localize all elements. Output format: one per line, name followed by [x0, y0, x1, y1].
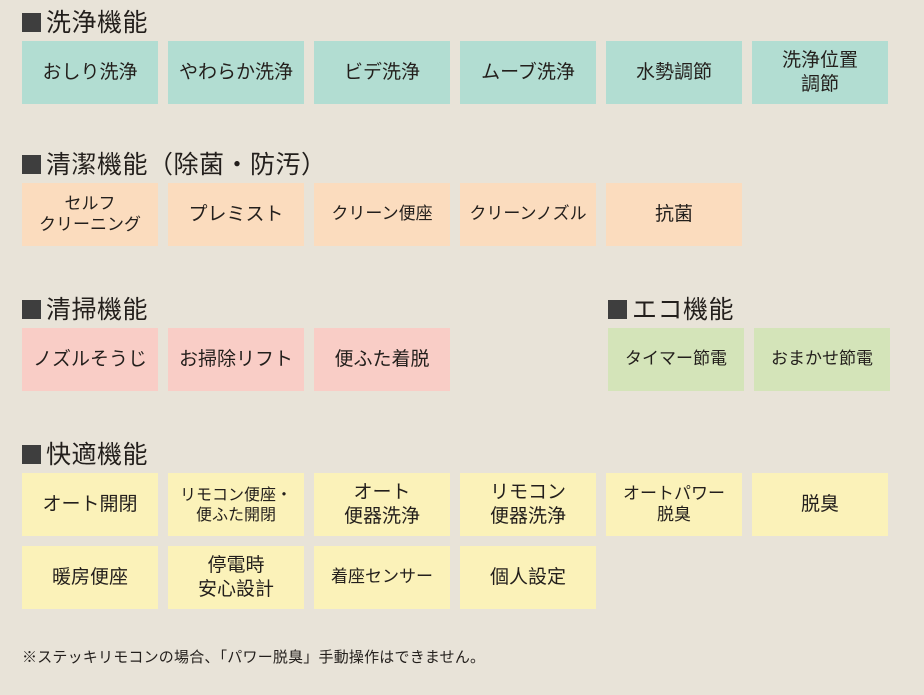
feature-tile-chakuza-sensor[interactable]: 着座センサー: [314, 546, 450, 609]
feature-tile-auto-power-datsushu[interactable]: オートパワー 脱臭: [606, 473, 742, 536]
square-marker-icon: [22, 13, 41, 32]
tile-row: オート開閉 リモコン便座・ 便ふた開閉 オート 便器洗浄 リモコン 便器洗浄 オ…: [0, 473, 888, 536]
section-header-clean: 清潔機能（除菌・防汚）: [0, 152, 742, 177]
feature-tile-self-cleaning[interactable]: セルフ クリーニング: [22, 183, 158, 246]
feature-tile-datsushu[interactable]: 脱臭: [752, 473, 888, 536]
feature-tile-nozzle-souji[interactable]: ノズルそうじ: [22, 328, 158, 391]
feature-tile-suisei-chosetsu[interactable]: 水勢調節: [606, 41, 742, 104]
section-header-eco: エコ機能: [596, 297, 890, 322]
feature-tile-benfuta-chakudatsu[interactable]: 便ふた着脱: [314, 328, 450, 391]
tile-row: ノズルそうじ お掃除リフト 便ふた着脱: [0, 328, 450, 391]
square-marker-icon: [608, 300, 627, 319]
square-marker-icon: [22, 155, 41, 174]
tile-row: タイマー節電 おまかせ節電: [596, 328, 890, 391]
section-sweep: 清掃機能 ノズルそうじ お掃除リフト 便ふた着脱: [0, 297, 450, 391]
feature-tile-osouji-lift[interactable]: お掃除リフト: [168, 328, 304, 391]
feature-tile-auto-kaihei[interactable]: オート開閉: [22, 473, 158, 536]
section-eco: エコ機能 タイマー節電 おまかせ節電: [596, 297, 890, 391]
feature-tile-auto-benki-senjo[interactable]: オート 便器洗浄: [314, 473, 450, 536]
feature-tile-danbo-benza[interactable]: 暖房便座: [22, 546, 158, 609]
footnote: ※ステッキリモコンの場合、「パワー脱臭」手動操作はできません。: [22, 646, 485, 667]
feature-tile-kojin-settei[interactable]: 個人設定: [460, 546, 596, 609]
feature-list-page: 洗浄機能 おしり洗浄 やわらか洗浄 ビデ洗浄 ムーブ洗浄 水勢調節 洗浄位置 調…: [0, 0, 924, 695]
section-title: 洗浄機能: [46, 10, 148, 35]
section-comfort: 快適機能 オート開閉 リモコン便座・ 便ふた開閉 オート 便器洗浄 リモコン 便…: [0, 442, 888, 609]
feature-tile-teidenji-anshin-sekkei[interactable]: 停電時 安心設計: [168, 546, 304, 609]
feature-tile-senjo-ichi-chosetsu[interactable]: 洗浄位置 調節: [752, 41, 888, 104]
section-title: 清潔機能（除菌・防汚）: [46, 152, 327, 177]
section-header-wash: 洗浄機能: [0, 10, 888, 35]
section-title: 快適機能: [46, 442, 148, 467]
section-clean: 清潔機能（除菌・防汚） セルフ クリーニング プレミスト クリーン便座 クリーン…: [0, 152, 742, 246]
feature-tile-remocon-benki-senjo[interactable]: リモコン 便器洗浄: [460, 473, 596, 536]
square-marker-icon: [22, 300, 41, 319]
feature-tile-remocon-benza-benfuta-kaihei[interactable]: リモコン便座・ 便ふた開閉: [168, 473, 304, 536]
feature-tile-omakase-setsuden[interactable]: おまかせ節電: [754, 328, 890, 391]
section-header-sweep: 清掃機能: [0, 297, 450, 322]
section-wash: 洗浄機能 おしり洗浄 やわらか洗浄 ビデ洗浄 ムーブ洗浄 水勢調節 洗浄位置 調…: [0, 10, 888, 104]
feature-tile-yawaraka-senjo[interactable]: やわらか洗浄: [168, 41, 304, 104]
feature-tile-clean-nozzle[interactable]: クリーンノズル: [460, 183, 596, 246]
tile-row: 暖房便座 停電時 安心設計 着座センサー 個人設定: [0, 546, 888, 609]
feature-tile-bidet-senjo[interactable]: ビデ洗浄: [314, 41, 450, 104]
tile-row: おしり洗浄 やわらか洗浄 ビデ洗浄 ムーブ洗浄 水勢調節 洗浄位置 調節: [0, 41, 888, 104]
feature-tile-kokin[interactable]: 抗菌: [606, 183, 742, 246]
section-title: 清掃機能: [46, 297, 148, 322]
tile-row: セルフ クリーニング プレミスト クリーン便座 クリーンノズル 抗菌: [0, 183, 742, 246]
feature-tile-clean-benza[interactable]: クリーン便座: [314, 183, 450, 246]
square-marker-icon: [22, 445, 41, 464]
feature-tile-oshiri-senjo[interactable]: おしり洗浄: [22, 41, 158, 104]
feature-tile-timer-setsuden[interactable]: タイマー節電: [608, 328, 744, 391]
feature-tile-pre-mist[interactable]: プレミスト: [168, 183, 304, 246]
section-header-comfort: 快適機能: [0, 442, 888, 467]
section-title: エコ機能: [632, 297, 734, 322]
feature-tile-move-senjo[interactable]: ムーブ洗浄: [460, 41, 596, 104]
